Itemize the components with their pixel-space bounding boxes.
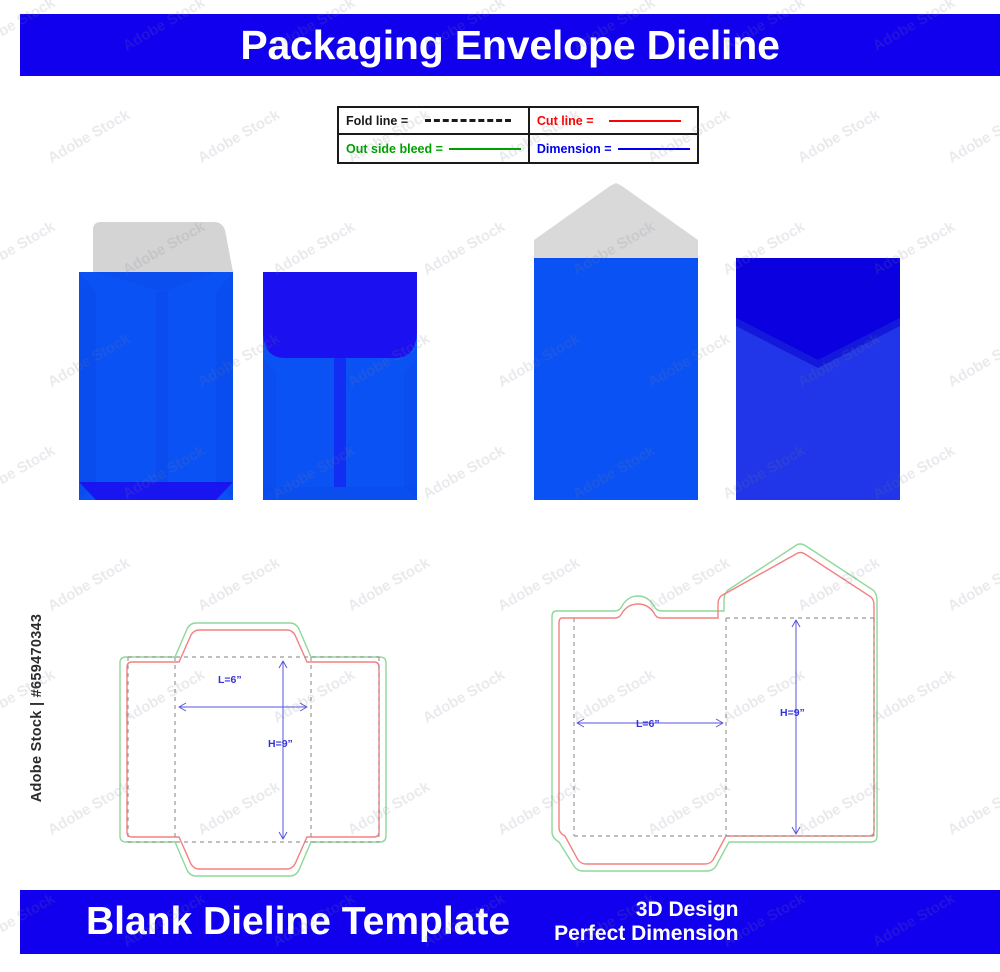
footer-subtitle: 3D Design Perfect Dimension — [554, 898, 738, 945]
fold-lines-left — [128, 657, 379, 842]
envelope-flap-gray — [93, 222, 233, 292]
envelope-back-flap — [263, 272, 417, 358]
stock-credit-watermark: Adobe Stock | #659470343 — [29, 583, 45, 833]
dimension-label-right-length: L=6” — [636, 718, 660, 730]
bottom-banner: Blank Dieline Template 3D Design Perfect… — [20, 890, 1000, 954]
watermark-text: Adobe Stock — [345, 554, 433, 615]
legend-item-fold-line: Fold line = — [339, 108, 530, 135]
watermark-text: Adobe Stock — [945, 778, 1000, 839]
legend-item-outside-bleed: Out side bleed = — [339, 135, 530, 162]
dashed-line-icon — [414, 119, 521, 122]
legend-item-dimension: Dimension = — [530, 135, 697, 162]
watermark-text: Adobe Stock — [345, 330, 433, 391]
watermark-text: Adobe Stock — [945, 554, 1000, 615]
watermark-text: Adobe Stock — [195, 554, 283, 615]
watermark-text: Adobe Stock — [795, 778, 883, 839]
watermark-text: Adobe Stock — [795, 106, 883, 167]
watermark-text: Adobe Stock — [45, 330, 133, 391]
watermark-text: Adobe Stock — [270, 666, 358, 727]
mockup-open-card-envelope-front — [534, 183, 698, 500]
watermark-text: Adobe Stock — [45, 106, 133, 167]
dimension-label-left-height: H=9” — [268, 738, 293, 750]
legend-label-fold-line: Fold line = — [346, 114, 408, 128]
watermark-text: Adobe Stock — [645, 778, 733, 839]
watermark-text: Adobe Stock — [420, 442, 508, 503]
legend-label-dimension: Dimension = — [537, 142, 612, 156]
watermark-text: Adobe Stock — [195, 330, 283, 391]
watermark-text: Adobe Stock — [945, 106, 1000, 167]
watermark-text: Adobe Stock — [270, 218, 358, 279]
legend-label-outside-bleed: Out side bleed = — [346, 142, 443, 156]
watermark-text: Adobe Stock — [645, 330, 733, 391]
card-envelope-back-flap — [736, 258, 900, 360]
mockup-closed-card-envelope-back — [736, 258, 900, 500]
watermark-text: Adobe Stock — [270, 442, 358, 503]
watermark-text: Adobe Stock — [0, 218, 58, 279]
dieline-side-flap-envelope — [552, 544, 877, 871]
watermark-text: Adobe Stock — [420, 666, 508, 727]
legend-label-cut-line: Cut line = — [537, 114, 594, 128]
fold-lines-right — [574, 618, 874, 836]
watermark-text: Adobe Stock — [720, 442, 808, 503]
solid-line-icon-blue — [618, 148, 690, 150]
watermark-text: Adobe Stock — [195, 106, 283, 167]
watermark-text: Adobe Stock — [720, 218, 808, 279]
bleed-outline-right — [552, 544, 877, 871]
cut-outline-left — [127, 630, 379, 869]
watermark-text: Adobe Stock — [495, 778, 583, 839]
watermark-text: Adobe Stock — [495, 554, 583, 615]
footer-title: Blank Dieline Template — [86, 900, 510, 944]
dieline-catalog-envelope — [120, 623, 386, 876]
cut-outline-right — [559, 553, 874, 865]
envelope-body — [79, 272, 233, 500]
watermark-text: Adobe Stock — [795, 330, 883, 391]
watermark-text: Adobe Stock — [870, 218, 958, 279]
page-title: Packaging Envelope Dieline — [240, 22, 779, 69]
mockup-closed-envelope-back — [263, 272, 417, 500]
dimension-arrows-right — [577, 620, 800, 834]
dieline-page: Packaging Envelope Dieline Fold line = C… — [0, 0, 1000, 972]
card-envelope-body — [534, 258, 698, 500]
legend-item-cut-line: Cut line = — [530, 108, 697, 135]
bleed-outline-left — [120, 623, 386, 876]
watermark-text: Adobe Stock — [45, 778, 133, 839]
top-banner: Packaging Envelope Dieline — [20, 14, 1000, 76]
watermark-text: Adobe Stock — [795, 554, 883, 615]
dimension-label-right-height: H=9” — [780, 707, 805, 719]
watermark-text: Adobe Stock — [570, 442, 658, 503]
watermark-text: Adobe Stock — [345, 778, 433, 839]
watermark-text: Adobe Stock — [195, 778, 283, 839]
dimension-arrows-left — [179, 661, 307, 839]
watermark-text: Adobe Stock — [120, 442, 208, 503]
footer-subtitle-line2: Perfect Dimension — [554, 922, 738, 946]
watermark-text: Adobe Stock — [870, 666, 958, 727]
watermark-text: Adobe Stock — [45, 554, 133, 615]
solid-line-icon-red — [600, 120, 690, 122]
legend-box: Fold line = Cut line = Out side bleed = … — [337, 106, 699, 164]
watermark-text: Adobe Stock — [420, 218, 508, 279]
watermark-text: Adobe Stock — [870, 442, 958, 503]
footer-subtitle-line1: 3D Design — [554, 898, 738, 922]
mockup-open-envelope-front — [79, 222, 233, 500]
solid-line-icon-green — [449, 148, 521, 150]
card-envelope-flap-gray — [534, 183, 698, 258]
watermark-text: Adobe Stock — [495, 330, 583, 391]
watermark-text: Adobe Stock — [0, 442, 58, 503]
dimension-label-left-length: L=6” — [218, 674, 242, 686]
watermark-text: Adobe Stock — [120, 218, 208, 279]
watermark-text: Adobe Stock — [570, 218, 658, 279]
watermark-text: Adobe Stock — [120, 666, 208, 727]
watermark-text: Adobe Stock — [945, 330, 1000, 391]
watermark-text: Adobe Stock — [645, 554, 733, 615]
